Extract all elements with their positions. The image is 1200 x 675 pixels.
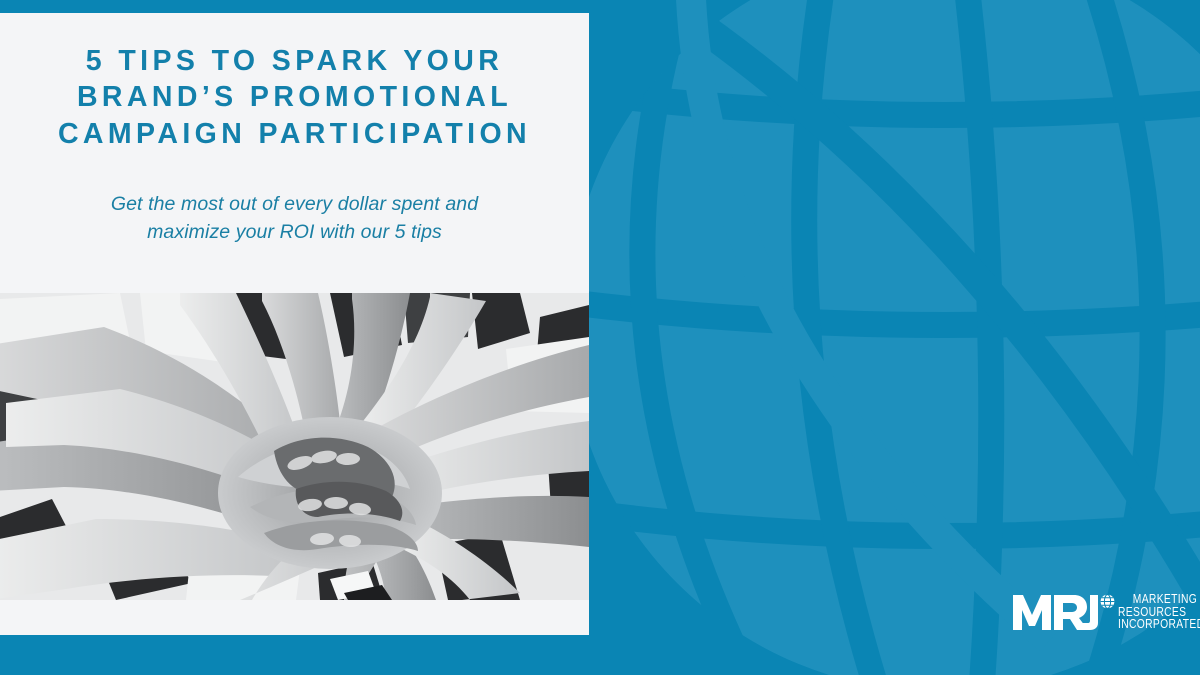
hands-illustration: [0, 293, 589, 600]
mri-wordmark-icon: [1012, 589, 1098, 635]
mri-tagline-line3: INCORPORATED: [1118, 618, 1200, 631]
content-card: 5 Tips to Spark Your Brand’s Promotional…: [0, 13, 589, 635]
card-text-block: 5 Tips to Spark Your Brand’s Promotional…: [0, 13, 589, 247]
slide-canvas: 5 Tips to Spark Your Brand’s Promotional…: [0, 0, 1200, 675]
globe-icon: [1100, 594, 1115, 609]
mri-logo: MARKETING RESOURCES INCORPORATED: [1012, 586, 1184, 638]
mri-tagline: MARKETING RESOURCES INCORPORATED: [1118, 593, 1200, 632]
page-title: 5 Tips to Spark Your Brand’s Promotional…: [22, 43, 567, 152]
team-hands-photo: [0, 293, 589, 600]
page-subtitle: Get the most out of every dollar spent a…: [22, 152, 567, 246]
